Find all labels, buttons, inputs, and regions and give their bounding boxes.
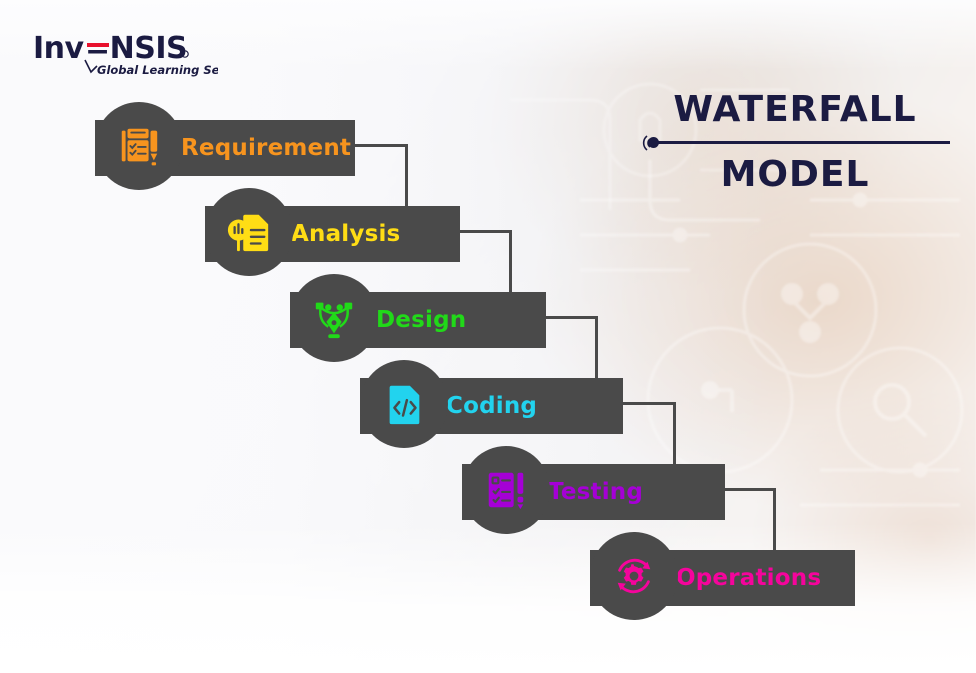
connector-5-h (722, 488, 776, 491)
title-rule-wrap (640, 135, 950, 149)
title-divider (654, 141, 950, 144)
connector-1-h (352, 144, 408, 147)
page-title-line1: WATERFALL (640, 86, 950, 134)
step-testing-circle[interactable] (462, 446, 550, 534)
signal-waves-icon (639, 134, 655, 152)
slide-canvas: Inv =NSIS Global Learning Services WATER… (0, 0, 976, 673)
step-design-label: Design (376, 307, 466, 333)
pen-tool-bezier-icon (311, 295, 357, 341)
clipboard-checklist-pencil-icon (116, 123, 162, 169)
step-design-circle[interactable] (290, 274, 378, 362)
step-coding-circle[interactable] (360, 360, 448, 448)
gear-refresh-icon (611, 553, 657, 599)
step-analysis-label: Analysis (291, 221, 400, 247)
step-operations-circle[interactable] (590, 532, 678, 620)
connector-3-h (544, 316, 598, 319)
step-requirement-label: Requirement (181, 135, 351, 161)
logo-tagline: Global Learning Services (97, 63, 218, 77)
logo-wordmark: Inv (33, 31, 85, 66)
step-operations-label: Operations (676, 565, 821, 591)
step-coding-label: Coding (446, 393, 537, 419)
page-title-line2: MODEL (640, 151, 950, 199)
invensis-logo: Inv =NSIS Global Learning Services (33, 30, 218, 78)
title-block: WATERFALL MODEL (640, 86, 950, 199)
document-chart-magnifier-icon (226, 209, 272, 255)
step-requirement-circle[interactable] (95, 102, 183, 190)
connector-2-h (458, 230, 512, 233)
connector-4-h (622, 402, 676, 405)
logo-accent-bar (87, 43, 109, 47)
step-analysis-circle[interactable] (205, 188, 293, 276)
logo-mark: Inv =NSIS Global Learning Services (33, 30, 218, 78)
code-file-icon (381, 381, 427, 427)
test-checklist-icon (483, 467, 529, 513)
step-testing-label: Testing (548, 479, 643, 505)
logo-wordmark-2: =NSIS (85, 31, 187, 66)
